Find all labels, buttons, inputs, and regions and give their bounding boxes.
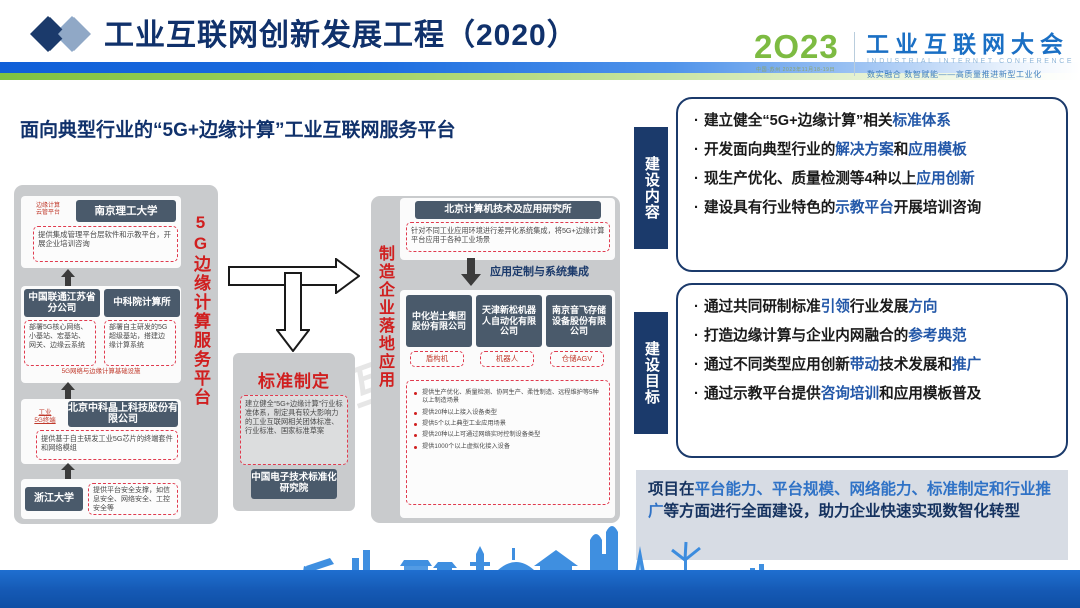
summary-prefix: 项目在 xyxy=(648,481,695,498)
company-nanjing-yinfei: 南京音飞存储设备股份有限公司 xyxy=(546,295,612,347)
list-item-4: 通过示教平台提供咨询培训和应用模板普及 xyxy=(694,386,1052,402)
panel-construction-goal: 通过共同研制标准引领行业发展方向 打造边缘计算与企业内网融合的参考典范 通过不同… xyxy=(676,283,1068,458)
cloud-platform-tag: 边缘计算 云管平台 xyxy=(22,203,74,217)
item-highlight: 咨询培训 xyxy=(821,386,879,402)
industrial-5g-terminal-tag: 工业 5G终端 xyxy=(23,409,67,424)
section-subtitle: 面向典型行业的“5G+边缘计算”工业互联网服务平台 xyxy=(20,115,455,142)
infra-caption: 5G网络与边缘计算基础设施 xyxy=(21,368,181,376)
tag-robot: 机器人 xyxy=(480,351,534,367)
list-item-4: 建设具有行业特色的示教平台开展培训咨询 xyxy=(694,200,1052,216)
item-highlight: 标准体系 xyxy=(892,113,950,129)
conference-divider xyxy=(854,32,855,76)
org-beijing-computing-institute-desc: 针对不同工业应用环境进行差异化系统集成，将5G+边缘计算平台应用于各种工业场景 xyxy=(406,222,610,252)
conference-name-cn: 工业互联网大会 xyxy=(866,32,1069,57)
item-highlight-2: 应用模板 xyxy=(908,142,966,158)
item-highlight: 解决方案 xyxy=(835,142,893,158)
footer-water-band xyxy=(0,570,1080,608)
application-integration-label: 应用定制与系统集成 xyxy=(490,263,589,279)
conference-slogan: 数实融合 数智赋能——高质量推进新型工业化 xyxy=(867,69,1042,80)
panel-construction-content: 建立健全“5G+边缘计算”相关标准体系 开发面向典型行业的解决方案和应用模板 现… xyxy=(676,97,1068,272)
arrow-down-outline-icon xyxy=(276,272,310,352)
conference-lockup: 2O23 中国·苏州 2023年11月18-19日 工业互联网大会 INDUST… xyxy=(754,30,1072,82)
tab-construction-goal[interactable]: 建设目标 xyxy=(634,312,668,434)
standards-desc: 建立健全“5G+边缘计算”行业标准体系，制定具有较大影响力的工业互联网相关团体标… xyxy=(240,395,348,465)
list-item-3: 现生产优化、质量检测等4种以上应用创新 xyxy=(694,171,1052,187)
item-text-mid: 和 xyxy=(894,142,909,158)
item-highlight-2: 方向 xyxy=(908,299,937,315)
left-vertical-label: 5G边缘计算服务平台 xyxy=(188,213,213,407)
list-item-2: 开发面向典型行业的解决方案和应用模板 xyxy=(694,142,1052,158)
item-text: 建立健全“5G+边缘计算”相关 xyxy=(704,113,893,129)
conference-year: 2O23 xyxy=(754,30,839,64)
item-highlight-2: 推广 xyxy=(952,357,981,373)
list-item: 提供20种以上可通过网络实时控制设备类型 xyxy=(413,431,603,439)
org-nanjing-ust: 南京理工大学 xyxy=(76,200,176,222)
tab-construction-content[interactable]: 建设内容 xyxy=(634,127,668,249)
list-item-3: 通过不同类型应用创新带动技术发展和推广 xyxy=(694,357,1052,373)
item-highlight: 参考典范 xyxy=(908,328,966,344)
right-bullet-list: 提供生产优化、质量检测、协同生产、柔性制造、远程维护等5种以上制造场景 提供20… xyxy=(413,389,603,451)
org-unicom-jiangsu-desc: 部署5G核心网络、小基站、宏基站、网关、边缘云系统 xyxy=(24,320,96,366)
org-zhongke-jingshang: 北京中科晶上科技股份有限公司 xyxy=(68,401,178,427)
org-zhongke-jingshang-desc: 提供基于自主研发工业5G芯片的终端套件和网络模组 xyxy=(36,430,178,460)
slide-root: 工业互联网创新发展工程（2020） 2O23 中国·苏州 2023年11月18-… xyxy=(0,0,1080,608)
list-item: 提供5个以上典型工业应用场景 xyxy=(413,420,603,428)
item-text: 打造边缘计算与企业内网融合的 xyxy=(704,328,908,344)
org-cas-ict-desc: 部署自主研发的5G超级基站，搭建边缘计算系统 xyxy=(104,320,176,366)
org-zhejiang-univ: 浙江大学 xyxy=(25,487,83,511)
list-item-1: 建立健全“5G+边缘计算”相关标准体系 xyxy=(694,113,1052,129)
item-highlight: 引领 xyxy=(821,299,850,315)
summary-suffix: 等方面进行全面建设，助力企业快速实现数智化转型 xyxy=(664,503,1021,520)
right-bullet-box: 提供生产优化、质量检测、协同生产、柔性制造、远程维护等5种以上制造场景 提供20… xyxy=(406,380,610,505)
arrow-down-solid-icon xyxy=(460,258,482,286)
construction-goal-list: 通过共同研制标准引领行业发展方向 打造边缘计算与企业内网融合的参考典范 通过不同… xyxy=(694,299,1052,402)
item-highlight: 应用创新 xyxy=(916,171,974,187)
org-cesi: 中国电子技术标准化研究院 xyxy=(251,469,337,499)
standards-panel-bg: 标准制定 建立健全“5G+边缘计算”行业标准体系，制定具有较大影响力的工业互联网… xyxy=(233,353,355,511)
tag-shield-machine: 盾构机 xyxy=(410,351,464,367)
double-chevron-diamond-logo xyxy=(28,14,94,54)
item-text: 开发面向典型行业的 xyxy=(704,142,835,158)
footer-skyline xyxy=(0,520,1080,608)
item-text: 现生产优化、质量检测等4种以上 xyxy=(704,171,916,187)
standards-title: 标准制定 xyxy=(233,367,355,392)
list-item-1: 通过共同研制标准引领行业发展方向 xyxy=(694,299,1052,315)
org-zhejiang-univ-desc: 提供平台安全支撑，如信息安全、网络安全、工控安全等 xyxy=(88,483,178,515)
tag-warehouse-agv: 仓储AGV xyxy=(550,351,604,367)
item-highlight: 示教平台 xyxy=(835,200,893,216)
item-highlight: 带动 xyxy=(850,357,879,373)
list-item: 提供20种以上接入设备类型 xyxy=(413,409,603,417)
right-vertical-label: 制造企业落地应用 xyxy=(372,245,396,389)
list-item-2: 打造边缘计算与企业内网融合的参考典范 xyxy=(694,328,1052,344)
item-text-mid: 技术发展和 xyxy=(879,357,952,373)
construction-content-list: 建立健全“5G+边缘计算”相关标准体系 开发面向典型行业的解决方案和应用模板 现… xyxy=(694,113,1052,216)
list-item: 提供1000个以上虚拟化接入设备 xyxy=(413,443,603,451)
org-unicom-jiangsu: 中国联通江苏省分公司 xyxy=(24,289,100,317)
conference-year-subtitle: 中国·苏州 2023年11月18-19日 xyxy=(756,66,835,73)
conference-name-en: INDUSTRIAL INTERNET CONFERENCE xyxy=(867,58,1074,65)
item-text-mid: 行业发展 xyxy=(850,299,908,315)
item-text-post: 开展培训咨询 xyxy=(894,200,982,216)
list-item: 提供生产优化、质量检测、协同生产、柔性制造、远程维护等5种以上制造场景 xyxy=(413,389,603,406)
company-tianjin-siasun: 天津新松机器人自动化有限公司 xyxy=(476,295,542,347)
item-text: 通过不同类型应用创新 xyxy=(704,357,850,373)
item-text-post: 和应用模板普及 xyxy=(879,386,981,402)
item-text: 通过示教平台提供 xyxy=(704,386,821,402)
item-text: 建设具有行业特色的 xyxy=(704,200,835,216)
page-title: 工业互联网创新发展工程（2020） xyxy=(104,10,578,54)
company-zhonghua-yantu: 中化岩土集团股份有限公司 xyxy=(406,295,472,347)
org-cas-ict: 中科院计算所 xyxy=(104,289,180,317)
item-text: 通过共同研制标准 xyxy=(704,299,821,315)
org-nanjing-ust-desc: 提供集成管理平台层软件和示教平台，开展企业培训咨询 xyxy=(33,226,178,262)
org-beijing-computing-institute: 北京计算机技术及应用研究所 xyxy=(415,201,601,219)
